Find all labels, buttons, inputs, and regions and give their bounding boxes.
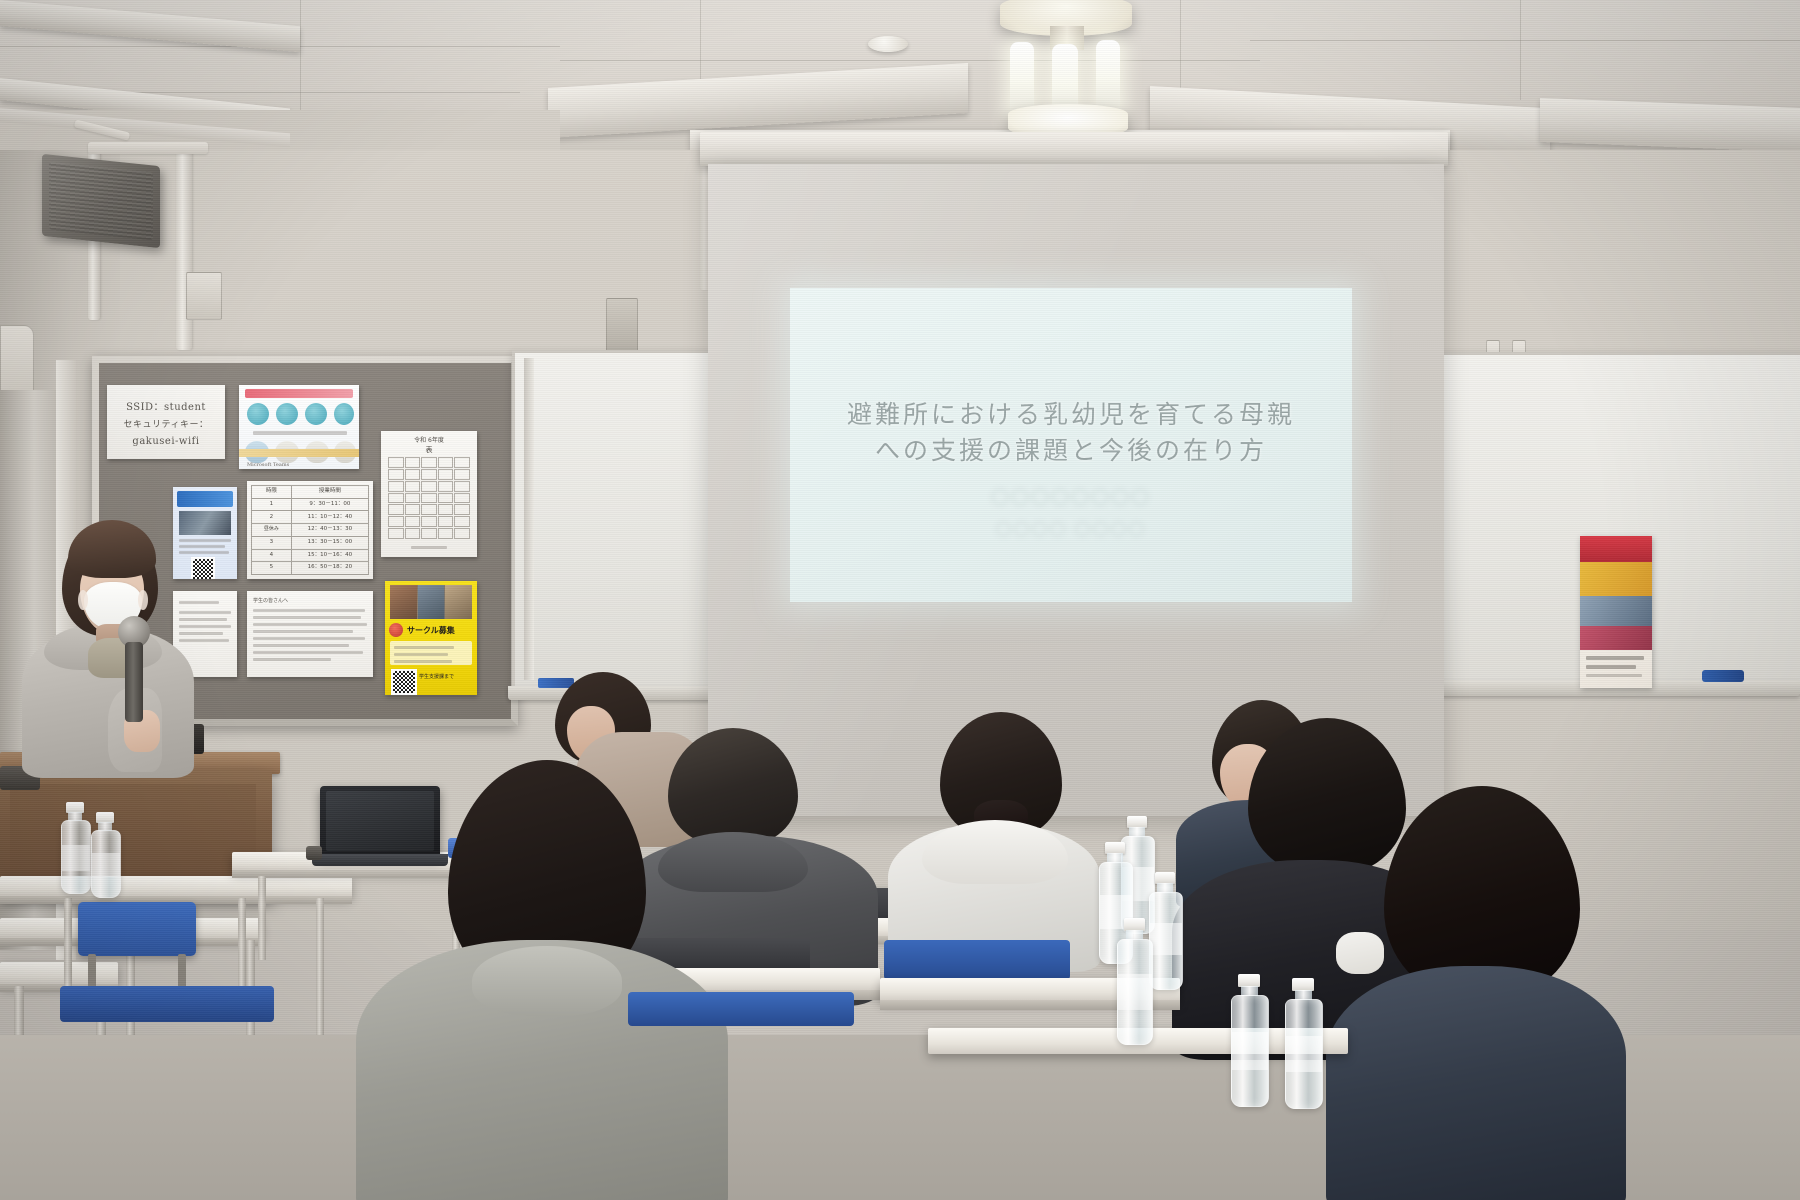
- poster-photo-band: [1580, 596, 1652, 626]
- notice-heading: 学生の皆さんへ: [253, 597, 373, 604]
- cell-period: 5: [252, 562, 292, 575]
- attendance-poster: 令和 6年度 表: [381, 431, 477, 557]
- student-desk: [0, 876, 352, 898]
- poster-header-band: [245, 389, 353, 398]
- poster-text-line: [253, 630, 353, 633]
- poster-text-line: [1586, 665, 1636, 669]
- poster-text-line: [411, 546, 447, 549]
- water-bottle: [1228, 974, 1270, 1106]
- poster-text-line: [1586, 656, 1644, 660]
- poster-text-line: [253, 616, 361, 619]
- bottle-body: [61, 820, 91, 894]
- podium-front-panel: [10, 784, 256, 888]
- bottle-label: [1118, 974, 1152, 1010]
- table-row: 5 16：50－18：20: [252, 562, 369, 575]
- wall-speaker: [42, 154, 160, 248]
- wifi-key-line: セキュリティキー：: [107, 417, 225, 430]
- wall-conduit: [176, 150, 192, 350]
- whiteboard-rail: [524, 358, 534, 680]
- cell-time: 11：10－12：40: [291, 511, 368, 524]
- circle-recruitment-poster: サークル募集 学生支援課まで: [385, 581, 477, 695]
- microphone-body: [125, 642, 143, 722]
- projection-screen-case: [700, 132, 1448, 166]
- wall-switch-plate: [606, 298, 638, 352]
- cell-period: 昼休み: [252, 524, 292, 537]
- poster-text-line: [1586, 674, 1642, 677]
- chair-seat: [884, 940, 1070, 980]
- table-header-row: 時限 授業時間: [252, 486, 369, 499]
- poster-photo-band: [1580, 626, 1652, 650]
- poster-text-box: [390, 641, 472, 665]
- face-mask: [1336, 932, 1384, 974]
- mask-strap: [78, 590, 88, 610]
- water-bottle: [58, 802, 92, 894]
- poster-photo-collage: [390, 585, 472, 619]
- cell-period: 4: [252, 549, 292, 562]
- table-row: 2 11：10－12：40: [252, 511, 369, 524]
- desk-leg: [316, 898, 324, 1038]
- speaker-grill: [49, 161, 153, 241]
- presenter: [20, 520, 220, 770]
- slide-title-line-2: への支援の課題と今後の在り方: [790, 432, 1352, 470]
- attendance-subtitle: 表: [381, 445, 477, 455]
- chair-seat: [60, 986, 274, 1022]
- schedule-poster: 時限 授業時間 1 9：30－11：00 2 11：10－12：40 昼休み 1…: [247, 481, 373, 579]
- cell-time: 12：40－13：30: [291, 524, 368, 537]
- table-row: 昼休み 12：40－13：30: [252, 524, 369, 537]
- desk-leg: [14, 986, 24, 1040]
- cell-time: 9：30－11：00: [291, 498, 368, 511]
- mask-strap: [138, 590, 148, 610]
- col-head-time: 授業時間: [291, 486, 368, 499]
- bottle-label: [62, 845, 90, 871]
- projected-slide: 避難所における乳幼児を育てる母親 への支援の課題と今後の在り方 〇〇〇〇〇〇〇〇…: [790, 288, 1352, 602]
- attendance-title: 令和 6年度: [381, 435, 477, 444]
- wall-conduit: [88, 142, 208, 154]
- schedule-table: 時限 授業時間 1 9：30－11：00 2 11：10－12：40 昼休み 1…: [251, 485, 369, 575]
- avatar-icon: [334, 403, 354, 425]
- bottle-body: [1117, 939, 1153, 1045]
- cell-period: 3: [252, 536, 292, 549]
- avatar-icon: [247, 403, 269, 425]
- cell-time: 13：30－15：00: [291, 536, 368, 549]
- ceiling-seam: [300, 0, 301, 120]
- presenter-bangs: [68, 520, 156, 578]
- water-bottle: [88, 812, 122, 898]
- poster-text-line: [253, 431, 347, 435]
- poster-text-line: [253, 651, 363, 654]
- chair: [628, 980, 858, 1036]
- ceiling-seam: [560, 60, 1260, 61]
- smoke-detector-icon: [868, 36, 908, 52]
- bottle-label: [92, 853, 120, 877]
- poster-footer-band: [239, 449, 359, 457]
- bottle-body: [1285, 999, 1323, 1109]
- poster-text-line: [253, 637, 365, 640]
- wifi-password-line: gakusei-wifi: [107, 436, 225, 447]
- poster-text-line: [253, 609, 365, 612]
- qr-code-icon: [391, 669, 417, 695]
- chair-seat: [628, 992, 854, 1026]
- poster-text-line: [253, 644, 349, 647]
- torso: [1326, 966, 1626, 1200]
- wifi-ssid-line: SSID：student: [107, 398, 225, 413]
- ceiling-light-fixture: [1000, 0, 1150, 140]
- avatar-icon: [305, 403, 327, 425]
- desk-leg: [258, 876, 266, 960]
- laptop-mouse: [306, 846, 322, 860]
- poster-photo-band: [1580, 562, 1652, 596]
- bottle-label: [1232, 1032, 1268, 1070]
- board-notice: 学生の皆さんへ: [247, 591, 373, 677]
- microphone: [114, 616, 154, 726]
- slide-author-blurred: 〇〇〇〇 〇〇〇〇: [790, 516, 1352, 540]
- bottle-label: [1150, 923, 1182, 955]
- water-bottle: [1282, 978, 1324, 1108]
- audience-front-right: [1326, 786, 1626, 1200]
- accent-dot-icon: [389, 623, 403, 637]
- attendance-grid: [388, 457, 470, 539]
- chair-back: [78, 902, 196, 956]
- ceiling-seam: [1180, 0, 1181, 90]
- table-row: 1 9：30－11：00: [252, 498, 369, 511]
- teams-poster: Microsoft Teams: [239, 385, 359, 469]
- flyer-header-band: [177, 491, 233, 507]
- whiteboard-left: [512, 350, 714, 694]
- slide-subtitle-blurred: 〇〇〇〇〇〇〇〇: [790, 484, 1352, 510]
- desk-leg: [238, 898, 246, 986]
- avatar-icon: [276, 403, 298, 425]
- wifi-poster: SSID：student セキュリティキー： gakusei-wifi: [107, 385, 225, 459]
- marker-blue: [1702, 670, 1744, 682]
- col-head-period: 時限: [252, 486, 292, 499]
- water-bottle: [1114, 918, 1154, 1044]
- slide-title-line-1: 避難所における乳幼児を育てる母親: [790, 396, 1352, 434]
- table-row: 4 15：10－16：40: [252, 549, 369, 562]
- festival-poster: [1580, 536, 1652, 688]
- cell-time: 15：10－16：40: [291, 549, 368, 562]
- table-row: 3 13：30－15：00: [252, 536, 369, 549]
- bottle-label: [1286, 1036, 1322, 1072]
- cell-period: 1: [252, 498, 292, 511]
- desk-leg: [64, 898, 72, 994]
- teams-footer-label: Microsoft Teams: [247, 462, 359, 468]
- wall-outlet-plate: [186, 272, 222, 320]
- collar: [472, 946, 622, 1016]
- poster-text-line: [253, 623, 367, 626]
- audience-hoodie-white: [888, 712, 1106, 962]
- circle-poster-heading: サークル募集: [407, 625, 477, 636]
- poster-header-band: [1580, 536, 1652, 562]
- ceiling-seam: [1520, 0, 1521, 100]
- poster-text-line: [253, 658, 331, 661]
- bottle-body: [1149, 892, 1183, 990]
- cell-period: 2: [252, 511, 292, 524]
- classroom-scene: SSID：student セキュリティキー： gakusei-wifi Micr…: [0, 0, 1800, 1200]
- circle-poster-note: 学生支援課まで: [419, 673, 477, 680]
- bottle-body: [1231, 995, 1269, 1107]
- ceiling-seam: [1250, 40, 1800, 41]
- bottle-body: [91, 830, 121, 898]
- cell-time: 16：50－18：20: [291, 562, 368, 575]
